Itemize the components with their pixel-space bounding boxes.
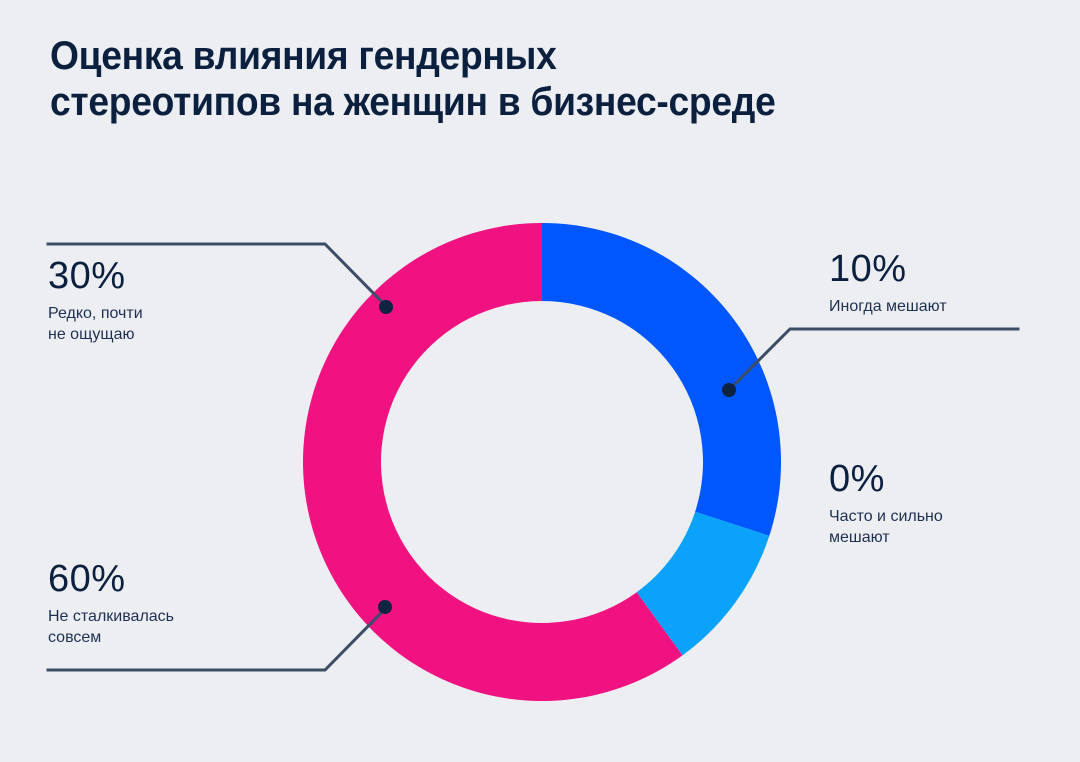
callout-never-percent: 60%: [48, 558, 174, 600]
callout-never: 60% Не сталкивалась совсем: [48, 558, 174, 648]
callout-rarely: 30% Редко, почти не ощущаю: [48, 255, 143, 345]
callout-sometimes: 10% Иногда мешают: [829, 248, 947, 317]
infographic-canvas: Оценка влияния гендерных стереотипов на …: [0, 0, 1080, 762]
callout-sometimes-label: Иногда мешают: [829, 296, 947, 317]
callout-often: 0% Часто и сильно мешают: [829, 458, 943, 548]
donut-chart: [303, 223, 781, 701]
callout-never-label: Не сталкивалась совсем: [48, 606, 174, 648]
donut-slice-rarely[interactable]: [542, 223, 781, 536]
callout-sometimes-percent: 10%: [829, 248, 947, 290]
callout-rarely-label: Редко, почти не ощущаю: [48, 303, 143, 345]
donut-chart-svg: [303, 223, 781, 701]
callout-often-label: Часто и сильно мешают: [829, 506, 943, 548]
page-title: Оценка влияния гендерных стереотипов на …: [50, 33, 971, 125]
callout-rarely-percent: 30%: [48, 255, 143, 297]
callout-often-percent: 0%: [829, 458, 943, 500]
